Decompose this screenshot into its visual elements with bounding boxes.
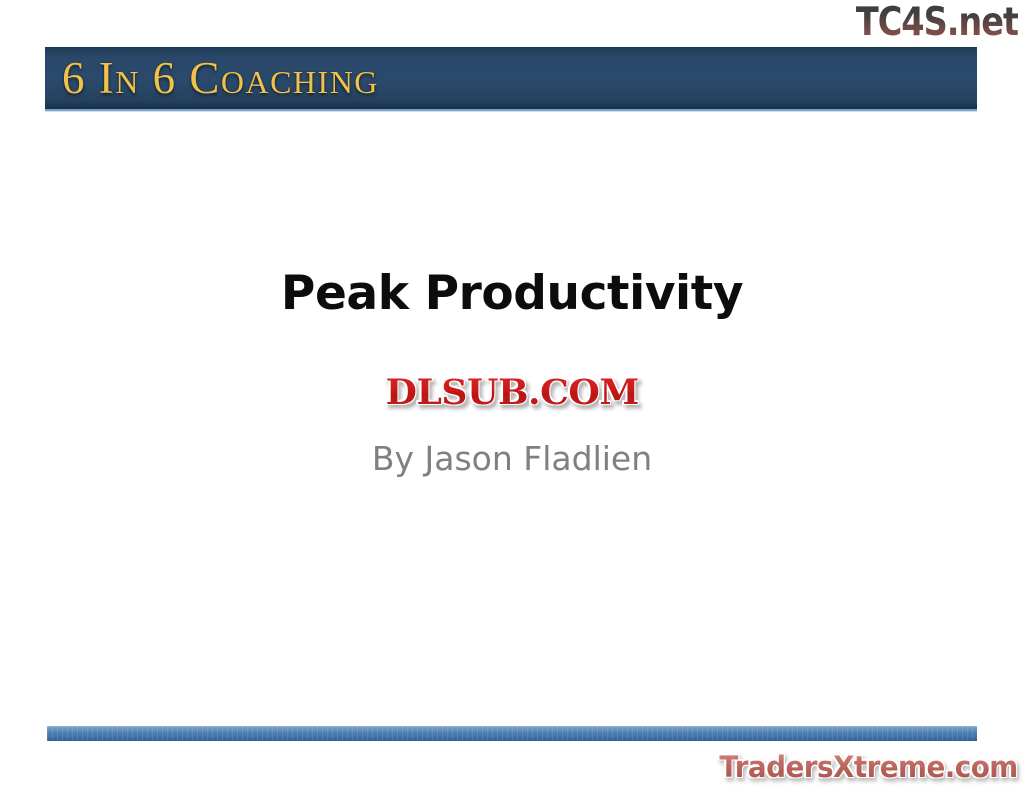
banner-title-text: 6 In 6 Coaching (62, 49, 379, 107)
dlsub-watermark-text: DLSUB.COM (385, 372, 638, 412)
tradersxtreme-watermark-text: TradersXtreme.com (720, 750, 1018, 784)
tradersxtreme-watermark: TradersXtreme.com (694, 750, 1018, 784)
presentation-slide: TC4S.net 6 In 6 Coaching Peak Productivi… (0, 0, 1024, 791)
slide-subtitle-author: By Jason Fladlien (0, 438, 1024, 480)
tc4s-watermark: TC4S.net (846, 1, 1018, 45)
slide-header-banner: 6 In 6 Coaching (45, 47, 977, 109)
dlsub-watermark: DLSUB.COM (0, 370, 1024, 414)
footer-divider-bar (47, 726, 977, 741)
slide-title: Peak Productivity (0, 266, 1024, 322)
